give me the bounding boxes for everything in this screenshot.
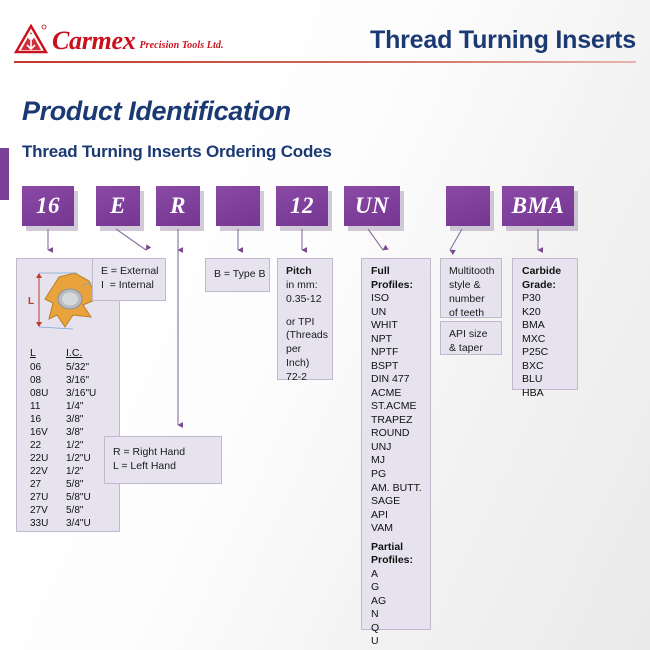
multitooth-line-1: Multitooth [449,265,494,279]
carmex-logo: Carmex Precision Tools Ltd. [14,24,224,54]
hand-box: E = External I = Internal [92,258,166,301]
grade-item: MXC [522,333,571,347]
profile-item: UN [371,306,424,320]
pitch-tpi-note2: per Inch) [286,343,325,371]
profile-item: SAGE [371,495,424,509]
direction-left: L = Left Hand [113,460,213,474]
profile-item: VAM [371,522,424,536]
brand-tagline: Precision Tools Ltd. [139,40,223,54]
profile-item: BSPT [371,360,424,374]
profile-item: U [371,635,424,649]
size-table-row: 08U3/16"U [17,387,121,400]
api-line-1: API size [449,328,494,342]
profile-item: UNJ [371,441,424,455]
size-cell-ic: 3/16"U [66,387,96,400]
grade-box: Carbide Grade: P30K20BMAMXCP25CBXCBLUHBA [512,258,578,390]
left-accent-bar [0,148,9,200]
type-box: B = Type B [205,258,270,292]
multitooth-box: Multitooth style & number of teeth [440,258,502,318]
profile-item: MJ [371,454,424,468]
code-box-hand[interactable]: E [96,186,140,226]
profile-item: G [371,581,424,595]
code-box-size[interactable]: 16 [22,186,74,226]
code-box-multitooth[interactable] [446,186,490,226]
page-title: Product Identification [22,96,291,127]
grade-header-1: Carbide [522,265,571,279]
hand-internal: I = Internal [101,279,158,293]
multitooth-line-3: number [449,293,494,307]
profile-item: N [371,608,424,622]
profile-item: ST.ACME [371,400,424,414]
header-divider [14,61,636,63]
grade-list: P30K20BMAMXCP25CBXCBLUHBA [522,292,571,400]
pitch-box: Pitch in mm: 0.35-12 or TPI (Threads per… [277,258,333,380]
page-subtitle: Thread Turning Inserts Ordering Codes [22,142,332,162]
code-label: E [110,193,126,219]
size-table-row: 33U3/4"U [17,517,121,530]
full-profiles-list: ISOUNWHITNPTNPTFBSPTDIN 477ACMEST.ACMETR… [371,292,424,536]
partial-profiles-list: AGAGNQU [371,568,424,649]
code-box-profile[interactable]: UN [344,186,400,226]
size-table-row: 065/32" [17,361,121,374]
size-cell-ic: 3/16" [66,374,89,387]
header-title: Thread Turning Inserts [370,26,636,55]
size-cell-l: 08 [30,374,66,387]
size-cell-ic: 1/2" [66,465,83,478]
grade-header-2: Grade: [522,279,571,293]
profile-item: API [371,509,424,523]
profile-item: ISO [371,292,424,306]
size-table-row: 111/4" [17,400,121,413]
profile-item: DIN 477 [371,373,424,387]
grade-item: BMA [522,319,571,333]
partial-profiles-header-2: Profiles: [371,554,424,568]
size-cell-ic: 5/32" [66,361,89,374]
brand-name: Carmex [52,29,135,54]
api-line-2: & taper [449,342,494,356]
size-cell-ic: 3/8" [66,413,83,426]
grade-item: HBA [522,387,571,401]
profile-item: ROUND [371,427,424,441]
size-table-row: 27U5/8"U [17,491,121,504]
pitch-range: 0.35-12 [286,293,325,307]
product-identification-page: Carmex Precision Tools Ltd. Thread Turni… [0,0,650,650]
size-cell-l: 16V [30,426,66,439]
size-cell-l: 06 [30,361,66,374]
size-cell-ic: 5/8" [66,504,83,517]
pitch-tpi-range: 72-2 [286,371,325,385]
multitooth-line-4: of teeth [449,307,494,321]
pitch-unit: in mm: [286,279,325,293]
size-cell-l: 22V [30,465,66,478]
profile-item: AM. BUTT. [371,482,424,496]
size-cell-l: 08U [30,387,66,400]
pitch-tpi: or TPI [286,316,325,330]
profile-item: NPT [371,333,424,347]
col-header-l: L [30,347,66,361]
grade-item: P30 [522,292,571,306]
grade-item: BXC [522,360,571,374]
profile-item: WHIT [371,319,424,333]
size-cell-ic: 1/2" [66,439,83,452]
size-cell-ic: 3/8" [66,426,83,439]
size-cell-l: 27 [30,478,66,491]
profile-item: A [371,568,424,582]
code-box-pitch[interactable]: 12 [276,186,328,226]
size-cell-ic: 1/2"U [66,452,91,465]
profile-item: Q [371,622,424,636]
code-label: BMA [512,193,565,219]
code-box-direction[interactable]: R [156,186,200,226]
direction-box: R = Right Hand L = Left Hand [104,436,222,484]
code-label: 16 [36,193,60,219]
type-b: B = Type B [214,268,261,282]
pitch-tpi-note1: (Threads [286,329,325,343]
carmex-triangle-logo-icon [14,24,48,54]
full-profiles-header-2: Profiles: [371,279,424,293]
hand-external: E = External [101,265,158,279]
profile-item: NPTF [371,346,424,360]
size-table-row: 083/16" [17,374,121,387]
size-cell-l: 22U [30,452,66,465]
size-cell-l: 11 [30,400,66,413]
size-cell-l: 33U [30,517,66,530]
code-box-grade[interactable]: BMA [502,186,574,226]
grade-item: P25C [522,346,571,360]
code-box-type[interactable] [216,186,260,226]
size-cell-l: 22 [30,439,66,452]
col-header-ic: I.C. [66,347,82,361]
size-table-row: 163/8" [17,413,121,426]
profile-item: PG [371,468,424,482]
size-cell-ic: 5/8"U [66,491,91,504]
grade-item: BLU [522,373,571,387]
profile-item: AG [371,595,424,609]
code-label: 12 [290,193,314,219]
size-cell-l: 16 [30,413,66,426]
size-cell-ic: 5/8" [66,478,83,491]
size-table-row: 27V5/8" [17,504,121,517]
partial-profiles-header-1: Partial [371,541,424,555]
size-cell-l: 27U [30,491,66,504]
size-cell-l: 27V [30,504,66,517]
size-cell-ic: 1/4" [66,400,83,413]
pitch-title: Pitch [286,265,325,279]
profile-item: ACME [371,387,424,401]
direction-right: R = Right Hand [113,446,213,460]
profiles-box: Full Profiles: ISOUNWHITNPTNPTFBSPTDIN 4… [361,258,431,630]
code-label: UN [355,193,389,219]
size-cell-ic: 3/4"U [66,517,91,530]
page-header: Carmex Precision Tools Ltd. Thread Turni… [0,0,650,68]
multitooth-line-2: style & [449,279,494,293]
profile-item: TRAPEZ [371,414,424,428]
svg-text:L: L [28,296,34,307]
code-label: R [170,193,186,219]
grade-item: K20 [522,306,571,320]
api-box: API size & taper [440,321,502,355]
size-table-header: L I.C. [17,347,121,361]
full-profiles-header-1: Full [371,265,424,279]
